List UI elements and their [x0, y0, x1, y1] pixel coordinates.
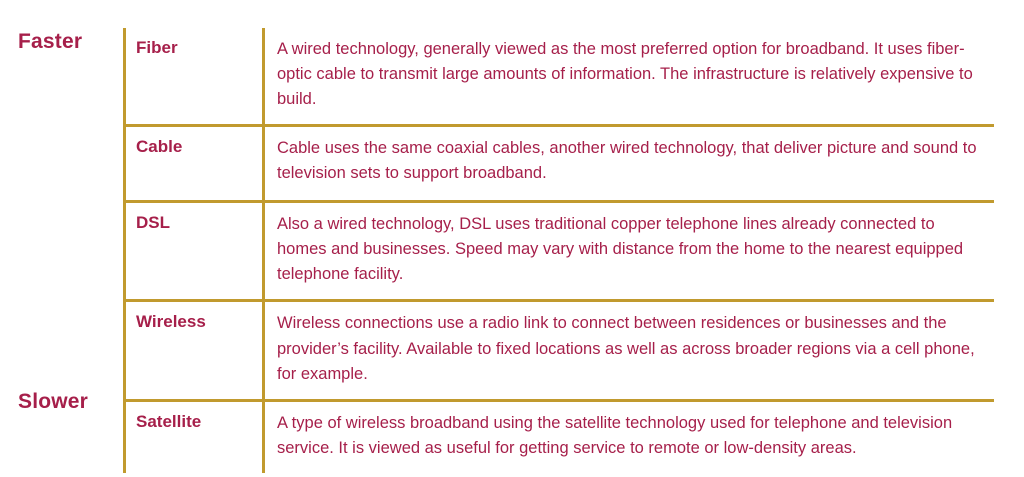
table-cell-description: A type of wireless broadband using the s… — [264, 400, 994, 473]
table-cell-description: Also a wired technology, DSL uses tradit… — [264, 202, 994, 301]
table-cell-technology-name: Wireless — [125, 301, 264, 400]
technology-name-wireless: Wireless — [126, 302, 262, 332]
speed-label-faster: Faster — [18, 30, 82, 54]
table-cell-technology-name: Fiber — [125, 28, 264, 126]
table-row: Satellite A type of wireless broadband u… — [125, 400, 994, 473]
table-row: Cable Cable uses the same coaxial cables… — [125, 126, 994, 202]
technology-description-dsl: Also a wired technology, DSL uses tradit… — [265, 203, 994, 299]
table-row: DSL Also a wired technology, DSL uses tr… — [125, 202, 994, 301]
technology-description-cable: Cable uses the same coaxial cables, anot… — [265, 127, 994, 198]
table-row: Fiber A wired technology, generally view… — [125, 28, 994, 126]
table-cell-technology-name: DSL — [125, 202, 264, 301]
table-cell-description: Wireless connections use a radio link to… — [264, 301, 994, 400]
table-cell-description: A wired technology, generally viewed as … — [264, 28, 994, 126]
speed-label-slower: Slower — [18, 390, 88, 414]
table-cell-technology-name: Satellite — [125, 400, 264, 473]
broadband-comparison-page: Faster Slower Fiber A wired technology, … — [0, 0, 1024, 477]
technology-name-satellite: Satellite — [126, 402, 262, 432]
table-row: Wireless Wireless connections use a radi… — [125, 301, 994, 400]
technology-description-satellite: A type of wireless broadband using the s… — [265, 402, 994, 473]
technology-name-dsl: DSL — [126, 203, 262, 233]
technology-name-cable: Cable — [126, 127, 262, 157]
technology-description-wireless: Wireless connections use a radio link to… — [265, 302, 994, 398]
technology-description-fiber: A wired technology, generally viewed as … — [265, 28, 994, 124]
broadband-technologies-table: Fiber A wired technology, generally view… — [123, 28, 994, 473]
table-cell-description: Cable uses the same coaxial cables, anot… — [264, 126, 994, 202]
technology-name-fiber: Fiber — [126, 28, 262, 58]
table-cell-technology-name: Cable — [125, 126, 264, 202]
